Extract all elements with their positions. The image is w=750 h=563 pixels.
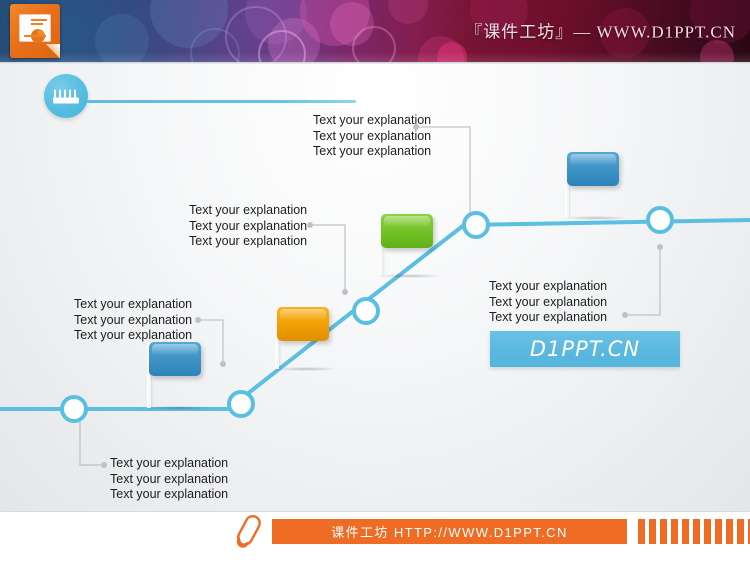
highlight-label: D1PPT.CN: [490, 331, 680, 367]
logo-inner-page: [19, 14, 51, 42]
comb-tooth: [64, 90, 66, 99]
card-shadow: [563, 216, 629, 220]
footer-tick: [682, 519, 689, 544]
header-brand-text: 『课件工坊』— WWW.D1PPT.CN: [465, 18, 736, 43]
comb-tooth: [69, 90, 71, 99]
header-banner: 『课件工坊』— WWW.D1PPT.CN: [0, 0, 750, 62]
badge-underline: [86, 100, 356, 103]
footer-tick: [638, 519, 645, 544]
text-block-top: Text your explanation Text your explanat…: [313, 113, 431, 160]
card-shadow: [377, 274, 443, 278]
text-line: Text your explanation: [313, 113, 431, 129]
text-line: Text your explanation: [74, 328, 192, 344]
text-block-upper-left: Text your explanation Text your explanat…: [189, 203, 307, 250]
powerpoint-document-icon[interactable]: [10, 4, 64, 60]
bokeh-circle: [300, 0, 370, 46]
footer-tick: [726, 519, 733, 544]
text-block-bottom: Text your explanation Text your explanat…: [110, 456, 228, 503]
footer-url-label: 课件工坊 HTTP://WWW.D1PPT.CN: [272, 519, 627, 544]
text-line: Text your explanation: [189, 219, 307, 235]
footer-tick: [737, 519, 744, 544]
comb-icon: [53, 89, 79, 104]
card-surface[interactable]: [567, 152, 619, 186]
footer-tick: [704, 519, 711, 544]
highlight-box[interactable]: D1PPT.CN: [490, 331, 680, 367]
text-line: Text your explanation: [489, 295, 607, 311]
bokeh-circle: [150, 0, 228, 48]
comb-tooth: [59, 90, 61, 99]
text-line: Text your explanation: [110, 456, 228, 472]
logo-bar: [24, 35, 46, 37]
comb-tooth: [54, 90, 56, 99]
bokeh-circle: [245, 0, 307, 44]
footer-tick: [660, 519, 667, 544]
logo-bar: [31, 23, 43, 25]
text-line: Text your explanation: [110, 472, 228, 488]
logo-fold: [46, 44, 60, 58]
bokeh-circle: [330, 2, 374, 46]
text-line: Text your explanation: [489, 279, 607, 295]
header-shine: [0, 52, 750, 62]
card-surface[interactable]: [149, 342, 201, 376]
bokeh-circle: [388, 0, 428, 24]
text-line: Text your explanation: [189, 234, 307, 250]
comb-icon-badge[interactable]: [44, 74, 88, 118]
text-block-left: Text your explanation Text your explanat…: [74, 297, 192, 344]
card-surface[interactable]: [381, 214, 433, 248]
footer-tick: [649, 519, 656, 544]
text-line: Text your explanation: [110, 487, 228, 503]
text-line: Text your explanation: [489, 310, 607, 326]
footer-tick: [671, 519, 678, 544]
text-line: Text your explanation: [313, 129, 431, 145]
logo-bar: [31, 19, 47, 21]
text-line: Text your explanation: [74, 313, 192, 329]
text-line: Text your explanation: [313, 144, 431, 160]
pen-icon: [231, 513, 265, 551]
comb-tooth: [74, 90, 76, 99]
slide-root: 『课件工坊』— WWW.D1PPT.CN: [0, 0, 750, 563]
card-surface[interactable]: [277, 307, 329, 341]
footer-url-bar: 课件工坊 HTTP://WWW.D1PPT.CN: [272, 519, 627, 544]
footer-tick: [715, 519, 722, 544]
card-shadow: [273, 367, 339, 371]
text-line: Text your explanation: [189, 203, 307, 219]
card-shadow: [145, 406, 211, 410]
text-block-right: Text your explanation Text your explanat…: [489, 279, 607, 326]
footer-tick: [693, 519, 700, 544]
text-line: Text your explanation: [74, 297, 192, 313]
footer-divider: [0, 511, 750, 512]
